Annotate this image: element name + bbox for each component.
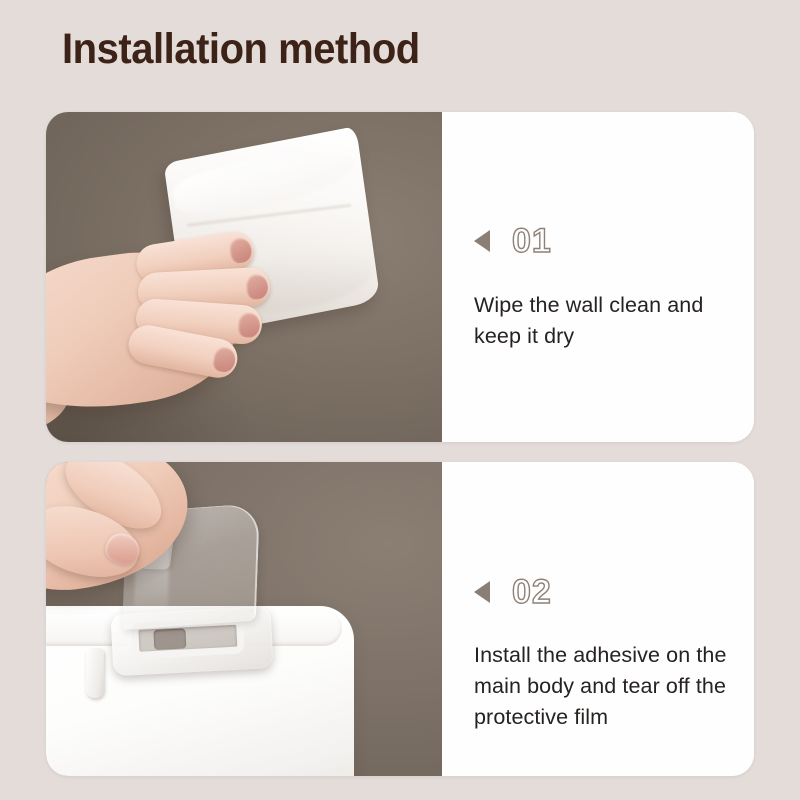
installation-step-card-1: 01 Wipe the wall clean and keep it dry [46,112,754,442]
step-1-heading: 01 [474,224,552,258]
step-2-photo [46,462,442,776]
page-title: Installation method [62,26,420,72]
step-2-heading: 02 [474,575,552,609]
step-2-description: Install the adhesive on the main body an… [474,640,738,733]
step-1-description: Wipe the wall clean and keep it dry [474,290,738,352]
triangle-left-icon [474,581,490,603]
triangle-left-icon [474,230,490,252]
installation-step-card-2: 02 Install the adhesive on the main body… [46,462,754,776]
fingernail [228,236,254,264]
step-2-number: 02 [512,575,552,609]
step-1-photo [46,112,442,442]
step-1-text-panel: 01 Wipe the wall clean and keep it dry [442,112,754,442]
fingernail [211,345,237,374]
step-1-number: 01 [512,224,552,258]
hand-peeling-film [46,462,240,668]
step-2-text-panel: 02 Install the adhesive on the main body… [442,462,754,776]
hand-wiping [46,204,306,442]
fingernail [237,312,261,338]
fingernail [245,274,268,300]
